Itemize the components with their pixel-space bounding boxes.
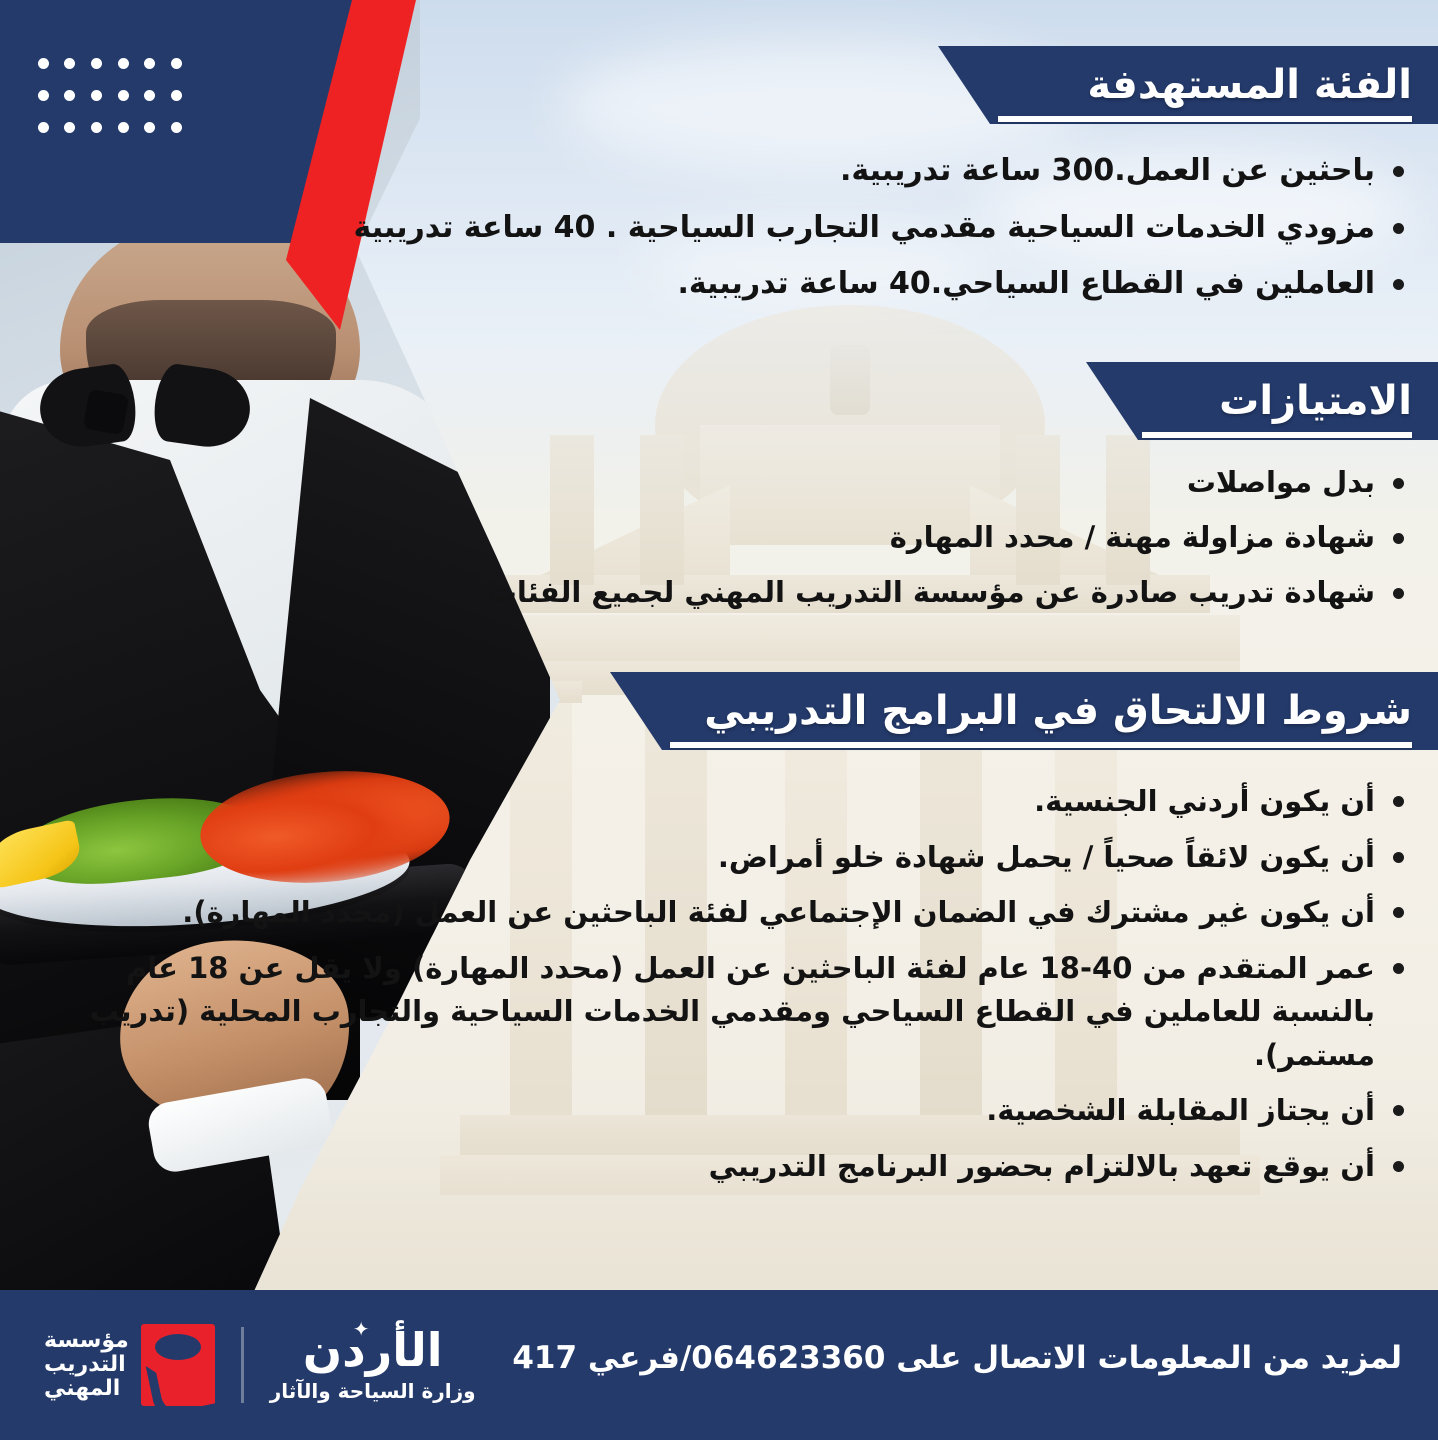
dot: [38, 90, 49, 101]
bullet-icon: [1393, 588, 1404, 599]
bullet-icon: [1393, 907, 1404, 918]
list-item-text: شهادة مزاولة مهنة / محدد المهارة: [44, 517, 1375, 558]
list-item: أن يكون غير مشترك في الضمان الإجتماعي لف…: [44, 891, 1404, 935]
list-item-text: عمر المتقدم من 40-18 عام لفئة الباحثين ع…: [44, 947, 1375, 1078]
footer-bar: لمزيد من المعلومات الاتصال على 064623360…: [0, 1290, 1438, 1440]
section-heading-benefits: الامتيازات: [1086, 362, 1438, 440]
dot: [64, 90, 75, 101]
dot: [144, 122, 155, 133]
list-item-text: باحثين عن العمل.300 ساعة تدريبية.: [44, 150, 1375, 193]
footer-logos: مؤسسة التدريب المهني ✦ الأردن وزارة السي…: [44, 1312, 476, 1418]
dot: [91, 122, 102, 133]
list-item: مزودي الخدمات السياحية مقدمي التجارب الس…: [44, 207, 1404, 250]
dot: [118, 58, 129, 69]
bullet-icon: [1393, 223, 1404, 234]
dot: [38, 58, 49, 69]
list-item: أن يوقع تعهد بالالتزام بحضور البرنامج ال…: [44, 1145, 1404, 1189]
ministry-logo-subtitle: وزارة السياحة والآثار: [270, 1379, 476, 1403]
vtc-logo-mark-icon: [141, 1324, 215, 1406]
dot-grid-pattern: [22, 58, 182, 154]
section-heading-underline: [998, 116, 1412, 122]
dot: [38, 122, 49, 133]
dot: [171, 90, 182, 101]
star-icon: ✦: [353, 1319, 369, 1339]
bullet-icon: [1393, 796, 1404, 807]
bullet-icon: [1393, 963, 1404, 974]
logo-divider: [241, 1327, 244, 1403]
section-heading-label: الفئة المستهدفة: [1087, 62, 1412, 108]
bullet-icon: [1393, 478, 1404, 489]
dot: [171, 122, 182, 133]
bullet-icon: [1393, 279, 1404, 290]
target-audience-list: باحثين عن العمل.300 ساعة تدريبية. مزودي …: [44, 150, 1404, 320]
dot: [171, 58, 182, 69]
dot: [144, 90, 155, 101]
waiter-bowtie: [40, 368, 250, 448]
list-item-text: أن يكون غير مشترك في الضمان الإجتماعي لف…: [44, 891, 1375, 935]
vtc-logo-text: مؤسسة التدريب المهني: [44, 1329, 129, 1400]
ministry-logo-wordmark: ✦ الأردن: [303, 1327, 443, 1373]
list-item: شهادة تدريب صادرة عن مؤسسة التدريب المهن…: [44, 572, 1404, 613]
bullet-icon: [1393, 852, 1404, 863]
dot: [91, 58, 102, 69]
bullet-icon: [1393, 533, 1404, 544]
list-item: بدل مواصلات: [44, 462, 1404, 503]
dot: [64, 58, 75, 69]
section-heading-underline: [670, 742, 1412, 748]
contact-info-text: لمزيد من المعلومات الاتصال على 064623360…: [512, 1340, 1402, 1376]
list-item-text: أن يكون أردني الجنسية.: [44, 780, 1375, 824]
list-item-text: أن يوقع تعهد بالالتزام بحضور البرنامج ال…: [44, 1145, 1375, 1189]
enrollment-conditions-list: أن يكون أردني الجنسية. أن يكون لائقاً صح…: [44, 780, 1404, 1200]
dot: [118, 90, 129, 101]
list-item: أن يجتاز المقابلة الشخصية.: [44, 1089, 1404, 1133]
section-heading-enrollment-conditions: شروط الالتحاق في البرامج التدريبي: [610, 672, 1438, 750]
list-item: عمر المتقدم من 40-18 عام لفئة الباحثين ع…: [44, 947, 1404, 1078]
vtc-logo: مؤسسة التدريب المهني: [44, 1324, 215, 1406]
section-heading-label: شروط الالتحاق في البرامج التدريبي: [704, 688, 1412, 734]
vtc-logo-line3: المهني: [44, 1377, 120, 1401]
benefits-list: بدل مواصلات شهادة مزاولة مهنة / محدد الم…: [44, 462, 1404, 628]
list-item: العاملين في القطاع السياحي.40 ساعة تدريب…: [44, 263, 1404, 306]
dot: [144, 58, 155, 69]
bullet-icon: [1393, 1161, 1404, 1172]
list-item-text: أن يكون لائقاً صحياً / يحمل شهادة خلو أم…: [44, 836, 1375, 880]
bullet-icon: [1393, 166, 1404, 177]
waiter-bowtie-knot: [83, 389, 129, 435]
vtc-logo-line2: التدريب: [44, 1353, 126, 1377]
list-item: باحثين عن العمل.300 ساعة تدريبية.: [44, 150, 1404, 193]
list-item: شهادة مزاولة مهنة / محدد المهارة: [44, 517, 1404, 558]
ministry-logo-name: الأردن: [303, 1323, 443, 1377]
list-item-text: شهادة تدريب صادرة عن مؤسسة التدريب المهن…: [44, 572, 1375, 613]
vtc-logo-line1: مؤسسة: [44, 1329, 129, 1353]
list-item: أن يكون لائقاً صحياً / يحمل شهادة خلو أم…: [44, 836, 1404, 880]
poster-root: الفئة المستهدفة باحثين عن العمل.300 ساعة…: [0, 0, 1438, 1440]
bullet-icon: [1393, 1105, 1404, 1116]
list-item: أن يكون أردني الجنسية.: [44, 780, 1404, 824]
dot: [91, 90, 102, 101]
list-item-text: بدل مواصلات: [44, 462, 1375, 503]
section-heading-target-audience: الفئة المستهدفة: [938, 46, 1438, 124]
list-item-text: مزودي الخدمات السياحية مقدمي التجارب الس…: [44, 207, 1375, 250]
list-item-text: أن يجتاز المقابلة الشخصية.: [44, 1089, 1375, 1133]
ministry-logo: ✦ الأردن وزارة السياحة والآثار: [270, 1327, 476, 1403]
section-heading-label: الامتيازات: [1219, 378, 1412, 424]
section-heading-underline: [1142, 432, 1412, 438]
dot: [64, 122, 75, 133]
list-item-text: العاملين في القطاع السياحي.40 ساعة تدريب…: [44, 263, 1375, 306]
dot: [118, 122, 129, 133]
